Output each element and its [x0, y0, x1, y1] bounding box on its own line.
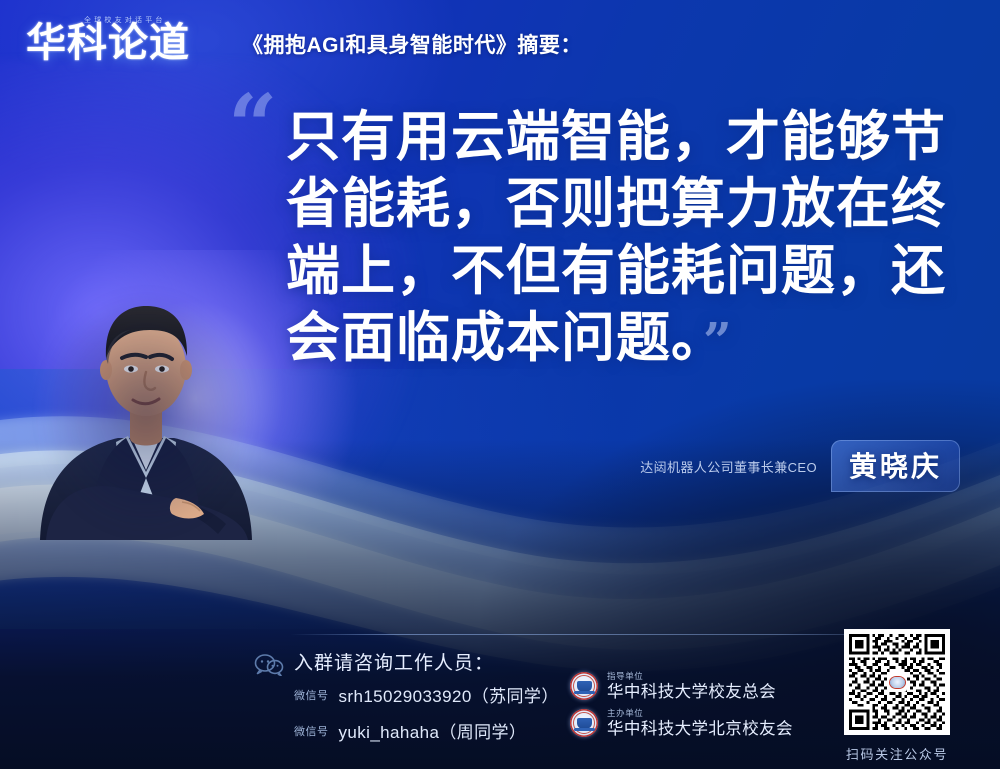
speaker-role: 达闼机器人公司董事长兼CEO: [640, 457, 817, 476]
attribution: 达闼机器人公司董事长兼CEO 黄晓庆: [640, 440, 960, 492]
quote-line: 只有用云端智能，才能够节: [286, 104, 946, 171]
footer-heading: 入群请咨询工作人员：: [294, 648, 494, 675]
contact-label: 微信号: [294, 687, 329, 703]
header: 全球校友对话平台 华科论道 《拥抱AGI和具身智能时代》摘要：: [0, 0, 1000, 88]
page-title: 《拥抱AGI和具身智能时代》摘要：: [242, 29, 582, 59]
organization-kind: 指导单位: [607, 672, 776, 682]
portrait-shadow: [36, 288, 256, 538]
contact-label: 微信号: [294, 723, 329, 739]
organization-text: 指导单位 华中科技大学校友总会: [607, 672, 776, 701]
contact-row: 微信号 yuki_hahaha（周同学）: [294, 718, 526, 743]
contact-value[interactable]: srh15029033920（苏同学）: [339, 682, 559, 707]
logo-wordmark: 华科论道: [26, 23, 190, 63]
speaker-portrait: [30, 272, 262, 540]
quote-line: 端上，不但有能耗问题，还: [286, 238, 946, 305]
speaker-name-badge: 黄晓庆: [831, 440, 960, 492]
contact-value[interactable]: yuki_hahaha（周同学）: [339, 718, 527, 743]
hust-emblem-icon: [570, 672, 598, 700]
qr-center-emblem-icon: [887, 672, 907, 692]
organization-name: 华中科技大学校友总会: [607, 683, 776, 701]
quote-line-text: 会面临成本问题。: [286, 308, 699, 368]
quote-open-icon: “: [228, 84, 277, 170]
organization-item: 指导单位 华中科技大学校友总会: [570, 672, 776, 701]
poster-canvas: 全球校友对话平台 华科论道 《拥抱AGI和具身智能时代》摘要： “ 只有用云端智…: [0, 0, 1000, 769]
quote-close-icon: ”: [703, 311, 730, 370]
wechat-icon: [254, 652, 284, 676]
organization-text: 主办单位 华中科技大学北京校友会: [607, 709, 793, 738]
brand-logo[interactable]: 全球校友对话平台 华科论道: [26, 13, 218, 75]
hust-emblem-icon: [570, 709, 598, 737]
quote-line: 省能耗，否则把算力放在终: [286, 171, 946, 238]
qr-block: 扫码关注公众号: [838, 629, 956, 763]
qr-caption: 扫码关注公众号: [838, 744, 956, 763]
footer-divider: [290, 634, 920, 635]
organization-name: 华中科技大学北京校友会: [607, 720, 793, 738]
quote-block: 只有用云端智能，才能够节 省能耗，否则把算力放在终 端上，不但有能耗问题，还 会…: [286, 104, 946, 374]
organization-item: 主办单位 华中科技大学北京校友会: [570, 709, 793, 738]
quote-line-last: 会面临成本问题。”: [286, 305, 946, 374]
contact-row: 微信号 srh15029033920（苏同学）: [294, 682, 559, 707]
organization-kind: 主办单位: [607, 709, 793, 719]
qr-code-icon[interactable]: [844, 629, 950, 735]
